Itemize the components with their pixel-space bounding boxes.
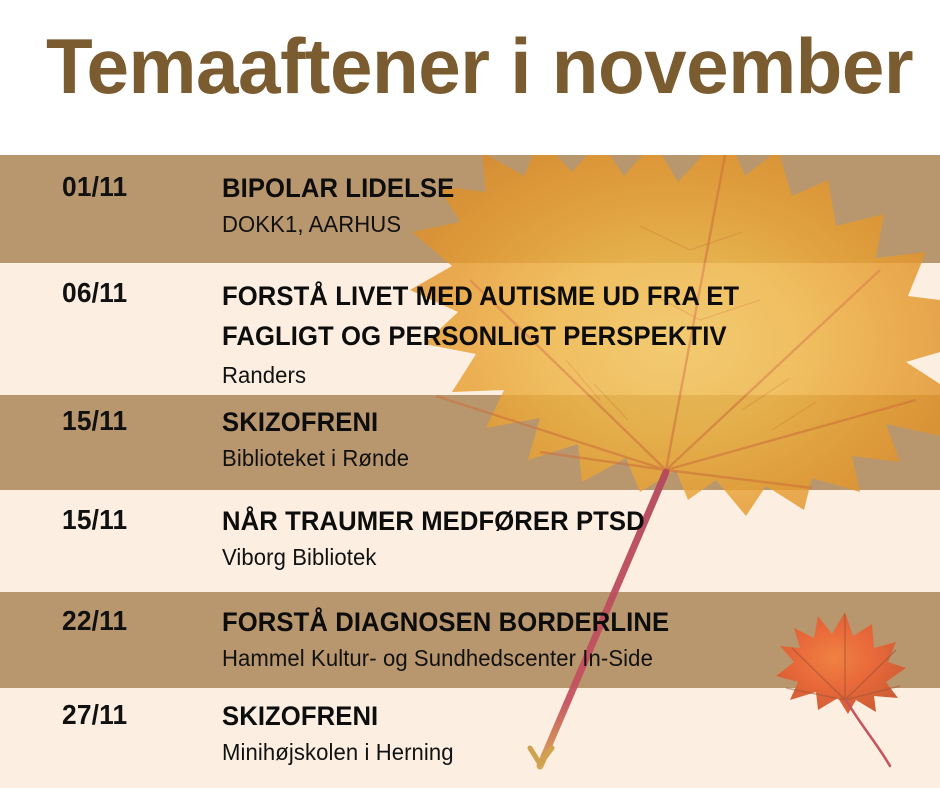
- event-date: 22/11: [62, 604, 127, 638]
- event-title: SKIZOFRENI: [222, 698, 887, 735]
- event-body: SKIZOFRENI Minihøjskolen i Herning: [222, 698, 922, 767]
- event-venue: Randers: [222, 360, 894, 390]
- event-date: 15/11: [62, 503, 127, 537]
- event-title: NÅR TRAUMER MEDFØRER PTSD: [222, 503, 887, 540]
- event-title: BIPOLAR LIDELSE: [222, 170, 887, 207]
- event-venue: Minihøjskolen i Herning: [222, 737, 894, 767]
- event-body: NÅR TRAUMER MEDFØRER PTSD Viborg Bibliot…: [222, 503, 922, 572]
- event-venue: DOKK1, AARHUS: [222, 209, 894, 239]
- event-date: 06/11: [62, 276, 127, 310]
- event-date: 15/11: [62, 404, 127, 438]
- event-date: 01/11: [62, 170, 127, 204]
- page-title: Temaaftener i november: [46, 24, 889, 108]
- event-title: FORSTÅ LIVET MED AUTISME UD FRA ET FAGLI…: [222, 276, 887, 356]
- event-venue: Hammel Kultur- og Sundhedscenter In-Side: [222, 643, 894, 673]
- event-body: BIPOLAR LIDELSE DOKK1, AARHUS: [222, 170, 922, 239]
- event-body: FORSTÅ DIAGNOSEN BORDERLINE Hammel Kultu…: [222, 604, 922, 673]
- event-date: 27/11: [62, 698, 127, 732]
- poster-canvas: 01/11 BIPOLAR LIDELSE DOKK1, AARHUS 06/1…: [0, 0, 940, 788]
- event-title: SKIZOFRENI: [222, 404, 887, 441]
- event-title: FORSTÅ DIAGNOSEN BORDERLINE: [222, 604, 887, 641]
- event-venue: Viborg Bibliotek: [222, 542, 894, 572]
- event-venue: Biblioteket i Rønde: [222, 443, 894, 473]
- event-body: SKIZOFRENI Biblioteket i Rønde: [222, 404, 922, 473]
- title-area: Temaaftener i november: [0, 0, 940, 155]
- event-body: FORSTÅ LIVET MED AUTISME UD FRA ET FAGLI…: [222, 276, 922, 390]
